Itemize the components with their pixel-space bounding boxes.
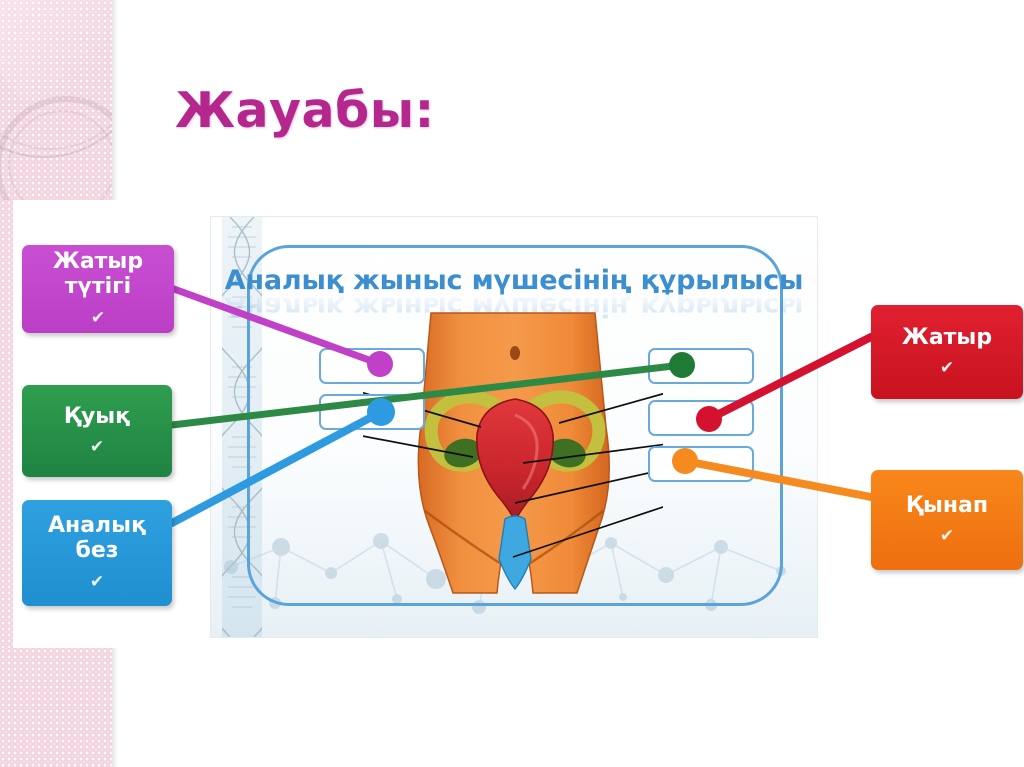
check-icon: ✔ bbox=[91, 309, 105, 328]
check-icon: ✔ bbox=[940, 527, 954, 546]
decorative-panel-shadow-bottom bbox=[112, 648, 118, 767]
answer-label: Қуық bbox=[58, 405, 136, 430]
page-title: Жауабы: bbox=[175, 82, 435, 139]
decorative-pink-strip-left bbox=[0, 200, 13, 650]
answer-card-zhatyr[interactable]: Жатыр ✔ bbox=[871, 305, 1023, 399]
check-icon: ✔ bbox=[90, 573, 104, 592]
answer-slot-l2[interactable] bbox=[319, 394, 425, 430]
answer-slot-r3[interactable] bbox=[648, 446, 754, 482]
check-icon: ✔ bbox=[940, 359, 954, 378]
answer-label: Жатыр түтігі bbox=[22, 250, 174, 299]
check-icon: ✔ bbox=[90, 438, 104, 457]
answer-label: Аналық без bbox=[22, 514, 172, 563]
decorative-panel-shadow-top bbox=[112, 0, 118, 200]
answer-card-zhatyr-tutigi[interactable]: Жатыр түтігі ✔ bbox=[22, 245, 174, 333]
decorative-ornament-group bbox=[0, 0, 112, 200]
answer-slot-r2[interactable] bbox=[648, 400, 754, 436]
answer-card-qynap[interactable]: Қынап ✔ bbox=[871, 470, 1023, 570]
answer-card-quyq[interactable]: Қуық ✔ bbox=[22, 385, 172, 477]
answer-slot-l1[interactable] bbox=[319, 348, 425, 384]
decorative-pink-panel-top bbox=[0, 0, 112, 200]
answer-label: Жатыр bbox=[896, 326, 998, 351]
diagram-image: Аналық жыныс мүшесінің құрылысы Аналық ж… bbox=[211, 217, 817, 637]
decorative-pink-panel-bottom bbox=[0, 648, 112, 767]
answer-label: Қынап bbox=[900, 494, 994, 519]
answer-card-analyq-bez[interactable]: Аналық без ✔ bbox=[22, 500, 172, 606]
answer-slot-r1[interactable] bbox=[648, 348, 754, 384]
